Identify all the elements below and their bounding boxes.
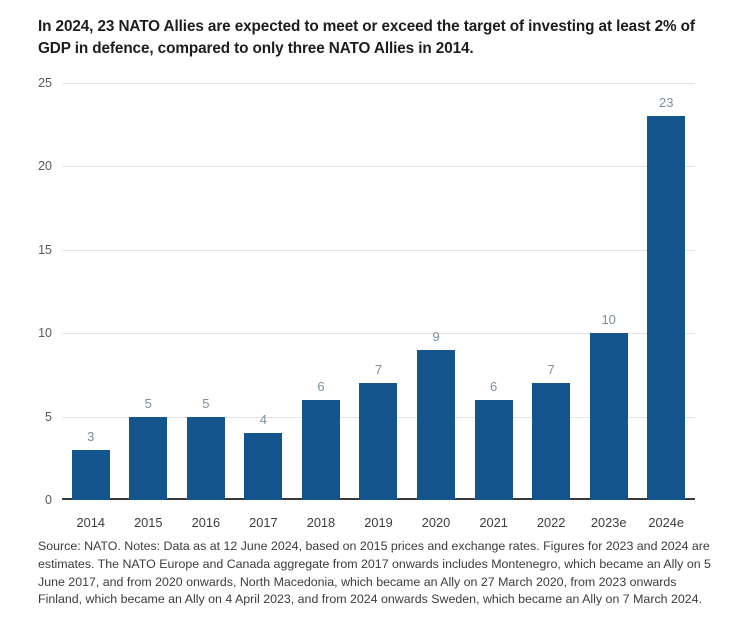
x-axis-tick-label: 2023e xyxy=(591,515,627,530)
bar-value-label: 10 xyxy=(601,312,615,327)
bar-value-label: 3 xyxy=(87,429,94,444)
y-axis-tick-label: 20 xyxy=(6,160,52,172)
x-axis-tick-label: 2015 xyxy=(134,515,162,530)
x-axis-tick-label: 2021 xyxy=(479,515,507,530)
bar[interactable] xyxy=(359,383,397,500)
chart-page: In 2024, 23 NATO Allies are expected to … xyxy=(0,0,742,637)
bars-layer: 3201452015520164201762018720199202062021… xyxy=(62,83,695,500)
x-axis-tick-label: 2016 xyxy=(192,515,220,530)
bar-group[interactable]: 42017 xyxy=(235,83,293,500)
bar[interactable] xyxy=(417,350,455,500)
bar[interactable] xyxy=(72,450,110,500)
bar-value-label: 7 xyxy=(375,362,382,377)
bar-group[interactable]: 72019 xyxy=(350,83,408,500)
bar-group[interactable]: 62018 xyxy=(292,83,350,500)
bar-value-label: 6 xyxy=(317,379,324,394)
bar-group[interactable]: 102023e xyxy=(580,83,638,500)
bar[interactable] xyxy=(187,417,225,500)
bar[interactable] xyxy=(244,433,282,500)
bar-group[interactable]: 52016 xyxy=(177,83,235,500)
bar[interactable] xyxy=(532,383,570,500)
x-axis-tick-label: 2018 xyxy=(307,515,335,530)
bar-group[interactable]: 92020 xyxy=(407,83,465,500)
y-axis-tick-label: 15 xyxy=(6,244,52,256)
y-axis-tick-label: 10 xyxy=(6,327,52,339)
x-axis-tick-label: 2024e xyxy=(648,515,684,530)
x-axis-tick-label: 2019 xyxy=(364,515,392,530)
bar-group[interactable]: 232024e xyxy=(637,83,695,500)
bar[interactable] xyxy=(302,400,340,500)
bar-value-label: 7 xyxy=(548,362,555,377)
y-axis-tick-label: 5 xyxy=(6,411,52,423)
y-axis-tick-label: 0 xyxy=(6,494,52,506)
page-title: In 2024, 23 NATO Allies are expected to … xyxy=(38,16,710,60)
bar[interactable] xyxy=(129,417,167,500)
bar-value-label: 4 xyxy=(260,412,267,427)
bar-group[interactable]: 52015 xyxy=(120,83,178,500)
bar-group[interactable]: 62021 xyxy=(465,83,523,500)
y-axis-tick-label: 25 xyxy=(6,77,52,89)
x-axis-tick-label: 2014 xyxy=(77,515,105,530)
bar-value-label: 23 xyxy=(659,95,673,110)
source-note: Source: NATO. Notes: Data as at 12 June … xyxy=(38,538,714,609)
x-axis-tick-label: 2022 xyxy=(537,515,565,530)
bar[interactable] xyxy=(475,400,513,500)
x-axis-tick-label: 2017 xyxy=(249,515,277,530)
bar-chart: 0510152025 32014520155201642017620187201… xyxy=(0,70,742,530)
bar-value-label: 5 xyxy=(202,396,209,411)
bar-group[interactable]: 32014 xyxy=(62,83,120,500)
bar[interactable] xyxy=(590,333,628,500)
bar-value-label: 5 xyxy=(145,396,152,411)
bar-group[interactable]: 72022 xyxy=(522,83,580,500)
x-axis-tick-label: 2020 xyxy=(422,515,450,530)
bar[interactable] xyxy=(647,116,685,500)
bar-value-label: 6 xyxy=(490,379,497,394)
bar-value-label: 9 xyxy=(432,329,439,344)
